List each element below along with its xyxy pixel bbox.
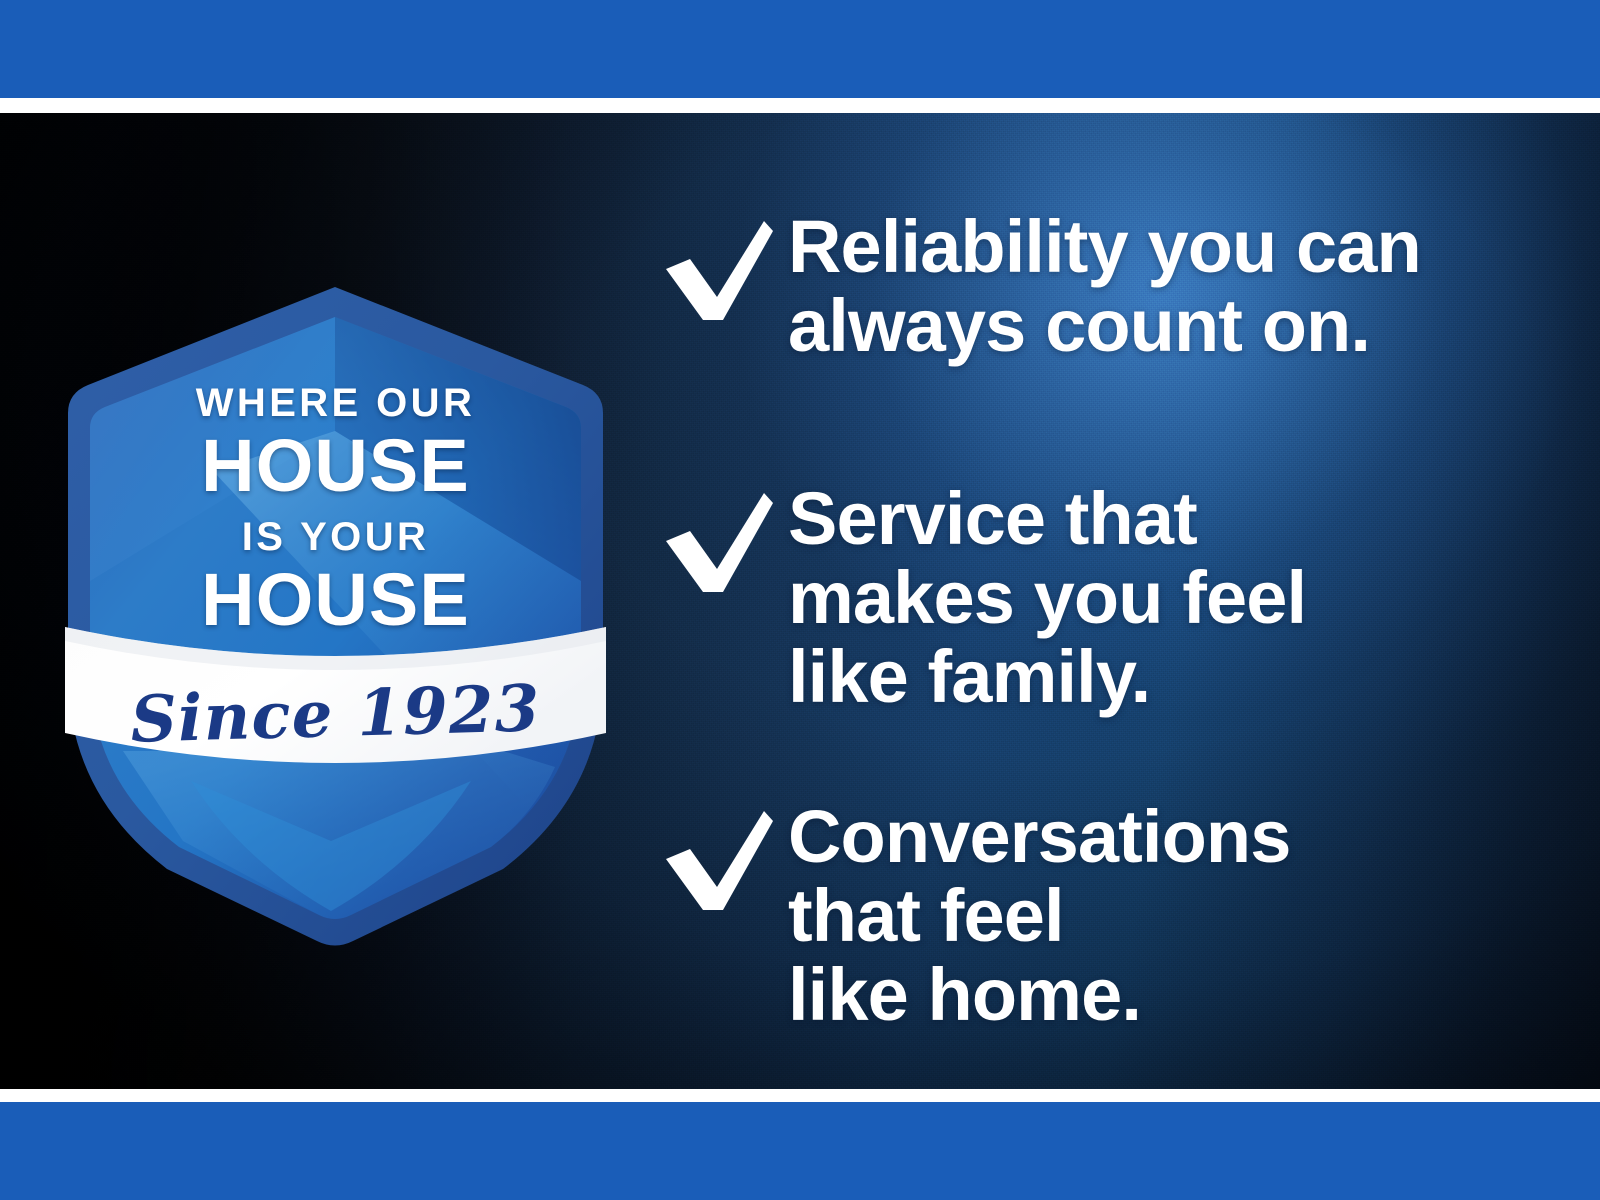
benefit-item: Reliability you can always count on. bbox=[660, 203, 1421, 365]
check-icon bbox=[660, 489, 788, 599]
check-icon bbox=[660, 807, 788, 917]
promo-graphic: WHERE OUR HOUSE IS YOUR HOUSE Since 1923… bbox=[0, 0, 1600, 1200]
benefit-item: Conversations that feel like home. bbox=[660, 793, 1290, 1035]
content-stage: WHERE OUR HOUSE IS YOUR HOUSE Since 1923… bbox=[0, 113, 1600, 1089]
shield-icon bbox=[63, 281, 608, 951]
benefit-item: Service that makes you feel like family. bbox=[660, 475, 1306, 717]
benefit-text: Service that makes you feel like family. bbox=[788, 479, 1306, 717]
check-icon bbox=[660, 217, 788, 327]
top-accent-bar bbox=[0, 0, 1600, 98]
benefit-text: Reliability you can always count on. bbox=[788, 207, 1421, 365]
bottom-accent-bar bbox=[0, 1102, 1600, 1200]
shield-badge: WHERE OUR HOUSE IS YOUR HOUSE Since 1923 bbox=[63, 281, 608, 951]
benefit-text: Conversations that feel like home. bbox=[788, 797, 1290, 1035]
